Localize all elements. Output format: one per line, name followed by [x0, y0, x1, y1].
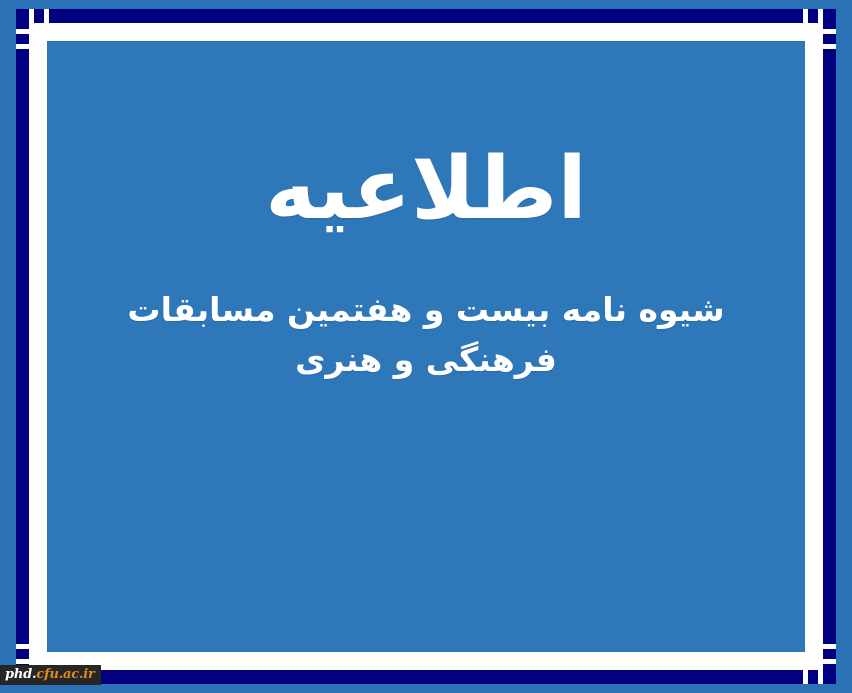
poster-subtitle: شیوه نامه بیست و هفتمین مسابقات فرهنگی و… [47, 285, 805, 384]
announcement-poster: اطلاعیه شیوه نامه بیست و هفتمین مسابقات … [0, 0, 852, 693]
watermark-domain: cfu.ac.ir [36, 667, 94, 682]
corner-notch-top-right-b [803, 9, 808, 24]
poster-content: اطلاعیه شیوه نامه بیست و هفتمین مسابقات … [47, 42, 805, 651]
corner-notch-top-left-d [16, 44, 31, 49]
corner-notch-top-right-d [821, 44, 836, 49]
corner-notch-bottom-left-d [16, 644, 31, 649]
corner-notch-top-right-c [821, 29, 836, 34]
corner-notch-top-left-c [16, 29, 31, 34]
corner-notch-top-left-a [29, 9, 34, 24]
corner-notch-top-left-b [44, 9, 49, 24]
watermark-prefix: phd. [5, 667, 36, 682]
corner-notch-bottom-right-b [803, 669, 808, 684]
corner-notch-top-right-a [818, 9, 823, 24]
corner-notch-bottom-right-d [821, 644, 836, 649]
corner-notch-bottom-right-c [821, 659, 836, 664]
poster-title: اطلاعیه [47, 142, 805, 237]
corner-notch-bottom-left-c [16, 659, 31, 664]
source-watermark: phd.cfu.ac.ir [0, 665, 101, 685]
corner-notch-bottom-right-a [818, 669, 823, 684]
